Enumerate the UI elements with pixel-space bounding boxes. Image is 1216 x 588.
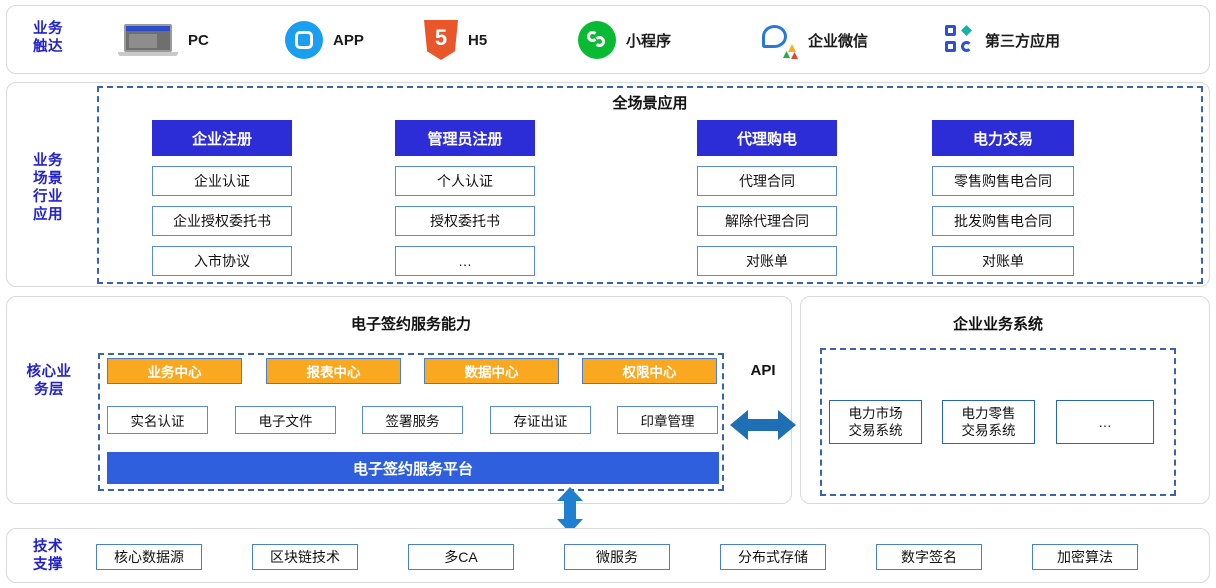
scene-column-agent-power-purchase: 代理购电 代理合同 解除代理合同 对账单 [697,120,837,276]
mini-program-icon [578,21,616,59]
scene-header-power-trading[interactable]: 电力交易 [932,120,1074,156]
reach-label-miniprogram: 小程序 [626,30,671,51]
reach-item-miniprogram[interactable]: 小程序 [578,18,671,62]
reach-item-app[interactable]: APP [285,18,364,62]
tech-box-multi-ca[interactable]: 多CA [408,544,514,570]
capability-box-signing[interactable]: 签署服务 [362,406,463,434]
center-box-data[interactable]: 数据中心 [424,358,559,384]
capability-box-efile[interactable]: 电子文件 [235,406,336,434]
scene-cell[interactable]: 代理合同 [697,166,837,196]
laptop-icon [118,22,178,58]
reach-label-pc: PC [188,32,209,49]
reach-item-pc[interactable]: PC [118,18,209,62]
wecom-icon [760,21,798,59]
scene-column-admin-register: 管理员注册 个人认证 授权委托书 … [395,120,535,276]
tech-box-microservice[interactable]: 微服务 [564,544,670,570]
reach-item-wecom[interactable]: 企业微信 [760,18,868,62]
scene-cell[interactable]: 企业认证 [152,166,292,196]
tech-box-core-data-source[interactable]: 核心数据源 [96,544,202,570]
reach-label-third-party: 第三方应用 [985,30,1060,51]
tech-box-encryption[interactable]: 加密算法 [1032,544,1138,570]
side-label-business-reach: 业务 触达 [20,20,76,56]
api-double-arrow-icon [730,408,796,442]
scene-cell[interactable]: 个人认证 [395,166,535,196]
reach-item-h5[interactable]: H5 [424,18,487,62]
scene-cell[interactable]: 对账单 [697,246,837,276]
group-title-all-scenario-apps: 全场景应用 [97,92,1203,113]
third-party-grid-icon [945,25,975,55]
scene-cell[interactable]: 批发购售电合同 [932,206,1074,236]
tech-box-blockchain[interactable]: 区块链技术 [252,544,358,570]
reach-label-app: APP [333,32,364,49]
app-circle-icon [285,21,323,59]
enterprise-box-more[interactable]: … [1056,400,1154,444]
scene-cell[interactable]: 企业授权委托书 [152,206,292,236]
scene-cell[interactable]: 授权委托书 [395,206,535,236]
architecture-diagram: 业务 触达 PC APP H5 小程序 企业微信 第三方应用 [0,0,1216,588]
tech-box-digital-signature[interactable]: 数字签名 [876,544,982,570]
scene-header-admin-register[interactable]: 管理员注册 [395,120,535,156]
scene-cell[interactable]: 零售购售电合同 [932,166,1074,196]
center-box-business[interactable]: 业务中心 [107,358,242,384]
scene-header-agent-power-purchase[interactable]: 代理购电 [697,120,837,156]
html5-icon [424,20,458,60]
capability-box-seal-manage[interactable]: 印章管理 [617,406,718,434]
capability-box-evidence[interactable]: 存证出证 [490,406,591,434]
side-label-business-scenario: 业务 场景 行业 应用 [20,152,76,224]
scene-header-enterprise-register[interactable]: 企业注册 [152,120,292,156]
platform-bar-esign-service-platform[interactable]: 电子签约服务平台 [107,452,719,484]
tech-box-distributed-storage[interactable]: 分布式存储 [720,544,826,570]
scene-cell[interactable]: … [395,246,535,276]
capability-box-realname[interactable]: 实名认证 [107,406,208,434]
group-title-esign-service-capability: 电子签约服务能力 [98,313,724,334]
scene-cell[interactable]: 入市协议 [152,246,292,276]
reach-label-wecom: 企业微信 [808,30,868,51]
enterprise-box-power-market[interactable]: 电力市场 交易系统 [829,400,922,444]
scene-column-power-trading: 电力交易 零售购售电合同 批发购售电合同 对账单 [932,120,1074,276]
reach-label-h5: H5 [468,32,487,49]
side-label-technical-support: 技术 支撑 [20,538,76,574]
side-label-core-business-layer: 核心业 务层 [18,363,80,399]
group-title-enterprise-business-system: 企业业务系统 [820,313,1176,334]
reach-item-third-party[interactable]: 第三方应用 [945,18,1060,62]
scene-cell[interactable]: 解除代理合同 [697,206,837,236]
scene-cell[interactable]: 对账单 [932,246,1074,276]
scene-column-enterprise-register: 企业注册 企业认证 企业授权委托书 入市协议 [152,120,292,276]
api-label: API [734,362,792,379]
enterprise-box-power-retail[interactable]: 电力零售 交易系统 [942,400,1035,444]
center-box-report[interactable]: 报表中心 [266,358,401,384]
vertical-double-arrow-icon [556,487,584,533]
center-box-auth[interactable]: 权限中心 [582,358,717,384]
